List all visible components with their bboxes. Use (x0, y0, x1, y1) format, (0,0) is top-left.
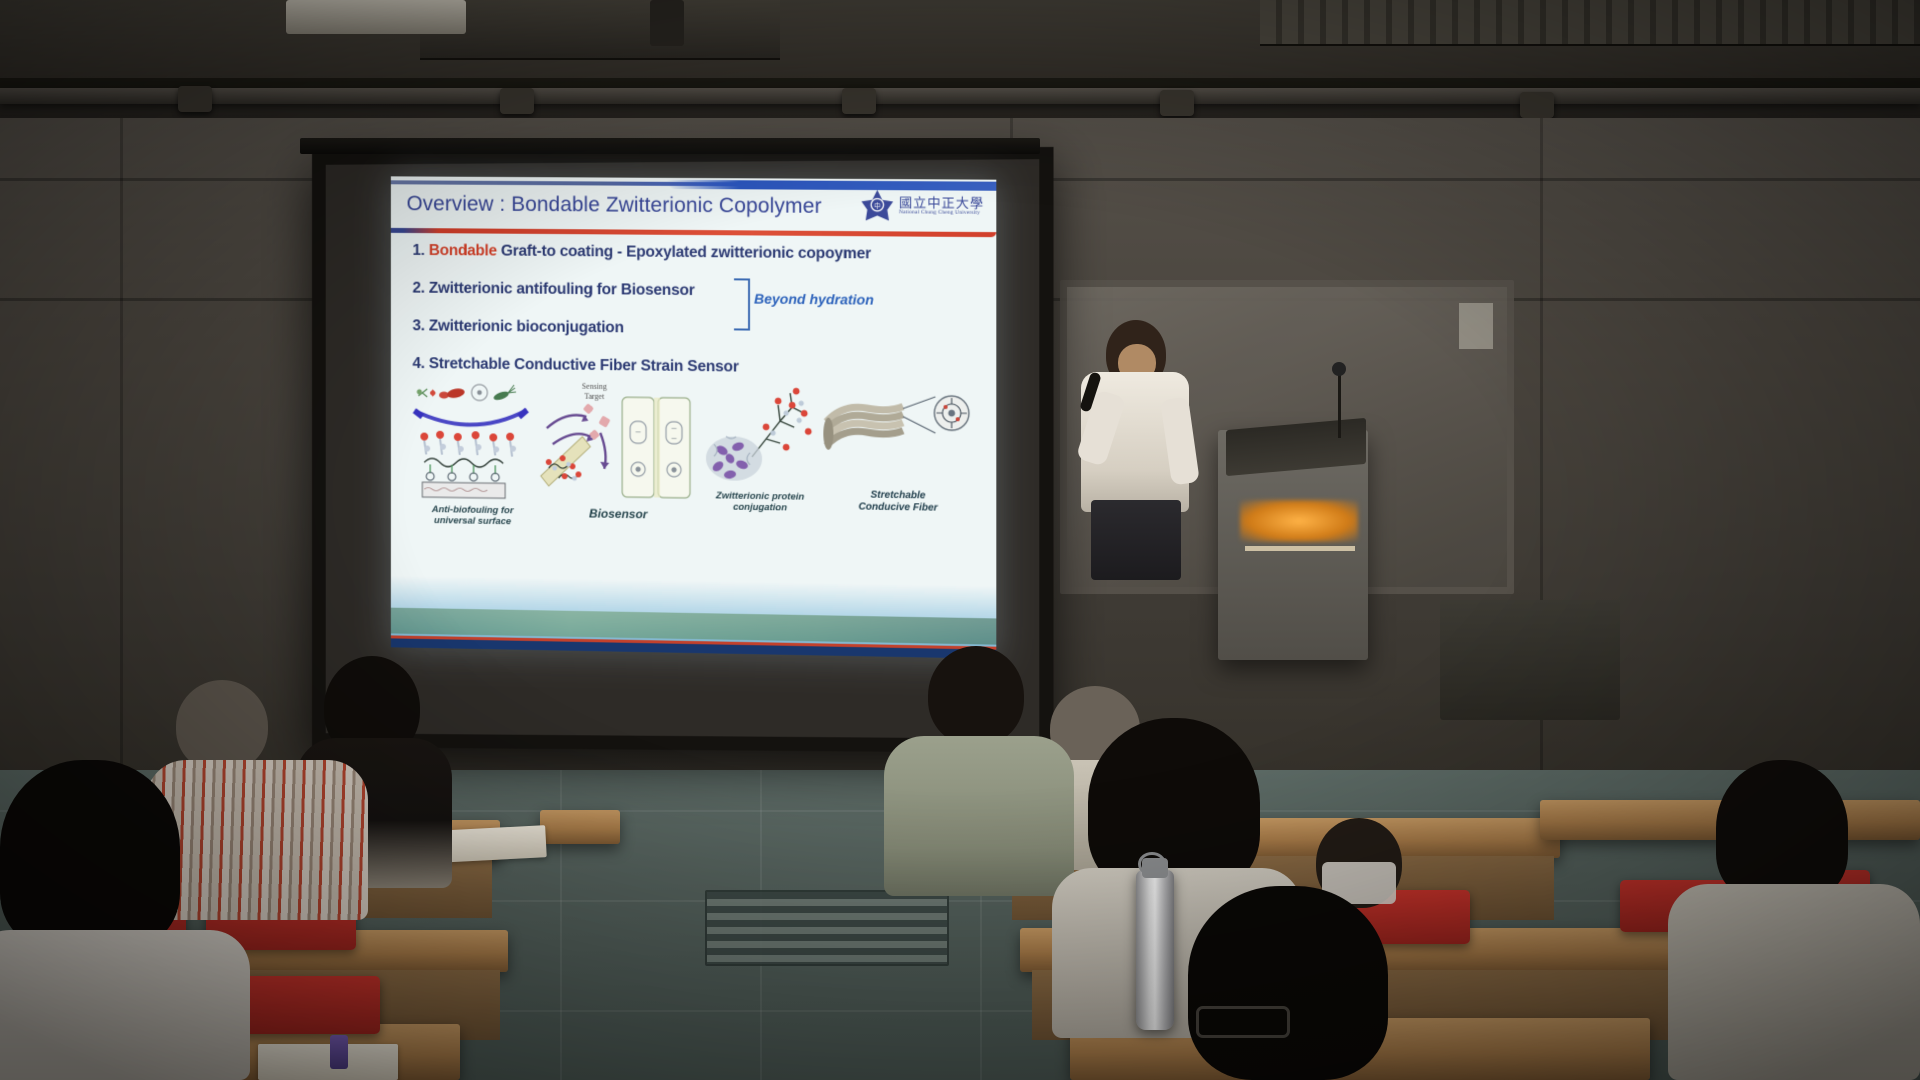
lectern-light (1240, 500, 1358, 542)
bullet-1-num: 1. (413, 242, 425, 259)
bullet-1-highlight: Bondable (429, 242, 497, 259)
bullet-3-text: Zwitterionic bioconjugation (429, 318, 624, 337)
bullet-3: 3. Zwitterionic bioconjugation (413, 317, 972, 340)
bullet-2: 2. Zwitterionic antifouling for Biosenso… (413, 280, 972, 303)
ceiling-light (500, 88, 534, 114)
ceiling-light (1160, 90, 1194, 116)
brace-bracket (734, 278, 750, 330)
mic-stand (1338, 368, 1341, 438)
ceiling-projector (286, 0, 466, 34)
beyond-hydration-label: Beyond hydration (754, 291, 874, 308)
figure-biosensor: Sensing Target (539, 376, 698, 523)
audience-head (0, 760, 180, 950)
slide-title: Overview : Bondable Zwitterionic Copolym… (407, 192, 822, 219)
bullet-3-num: 3. (413, 317, 425, 334)
presentation-slide: Overview : Bondable Zwitterionic Copolym… (391, 176, 996, 658)
eyeglasses-icon (1196, 1006, 1290, 1038)
audience-head (176, 680, 268, 772)
logo-name-en: National Chung Cheng University (899, 209, 984, 216)
bullet-1: 1. Bondable Graft-to coating - Epoxylate… (413, 242, 972, 264)
slide-title-underline (391, 228, 996, 237)
figure-caption-3: Zwitterionic protein conjugation (700, 491, 820, 515)
side-equipment (1440, 600, 1620, 720)
presenter-trousers (1091, 500, 1181, 580)
bullet-2-text: Zwitterionic antifouling for Biosensor (429, 280, 695, 299)
figure-stretchable-fiber: Stretchable Conducive Fiber (822, 381, 974, 514)
water-bottle (1136, 870, 1174, 1030)
figure-protein-conjugation: Zwitterionic protein conjugation (700, 386, 820, 515)
ceiling-duct (420, 0, 780, 60)
svg-text:–: – (672, 433, 677, 443)
svg-text:Target: Target (584, 392, 605, 401)
floor-vent (705, 890, 949, 966)
paper-sheet (258, 1044, 398, 1080)
bullet-4-num: 4. (413, 355, 425, 372)
ceiling-light (842, 88, 876, 114)
audience-head (928, 646, 1024, 746)
bullet-2-num: 2. (413, 280, 425, 297)
bottle-cap (1142, 858, 1168, 878)
ceiling-rail (0, 88, 1920, 104)
audience-head (1188, 886, 1388, 1080)
logo-name-cn: 國立中正大學 (899, 196, 984, 210)
audience-torso (1668, 884, 1920, 1080)
ceiling-light (178, 86, 212, 112)
svg-text:中: 中 (874, 201, 881, 210)
ceiling-light (1520, 92, 1554, 118)
svg-text:–: – (672, 423, 677, 433)
university-logo: 中 國立中正大學 National Chung Cheng University (861, 189, 984, 223)
marker-pen (330, 1035, 348, 1069)
figure-caption-1: Anti-biofouling for universal surface (409, 505, 537, 529)
bullet-4: 4. Stretchable Conductive Fiber Strain S… (413, 355, 972, 379)
slide-bullet-list: 1. Bondable Graft-to coating - Epoxylate… (413, 242, 972, 399)
audience-head (1716, 760, 1848, 902)
wall-notice (1459, 303, 1493, 349)
mic-stand-head-icon (1332, 362, 1346, 376)
figure-antibiofouling: Anti-biofouling for universal surface (409, 381, 537, 529)
ceiling-duct-right (1260, 0, 1920, 46)
audience-torso (0, 930, 250, 1080)
lecture-hall-photo: Overview : Bondable Zwitterionic Copolym… (0, 0, 1920, 1080)
audience-torso (884, 736, 1074, 896)
slide-footer-band (391, 576, 996, 659)
desk-left-back (540, 810, 620, 844)
bullet-4-text: Stretchable Conductive Fiber Strain Sens… (429, 355, 739, 375)
bullet-1-text: Graft-to coating - Epoxylated zwitterion… (497, 243, 871, 263)
svg-text:Sensing: Sensing (582, 382, 607, 391)
figure-caption-2: Biosensor (539, 507, 698, 523)
star-emblem-icon: 中 (861, 189, 894, 222)
projector-mount (650, 0, 684, 46)
screen-housing (300, 138, 1040, 154)
lectern-edge-light (1245, 546, 1355, 551)
svg-text:–: – (636, 426, 641, 436)
